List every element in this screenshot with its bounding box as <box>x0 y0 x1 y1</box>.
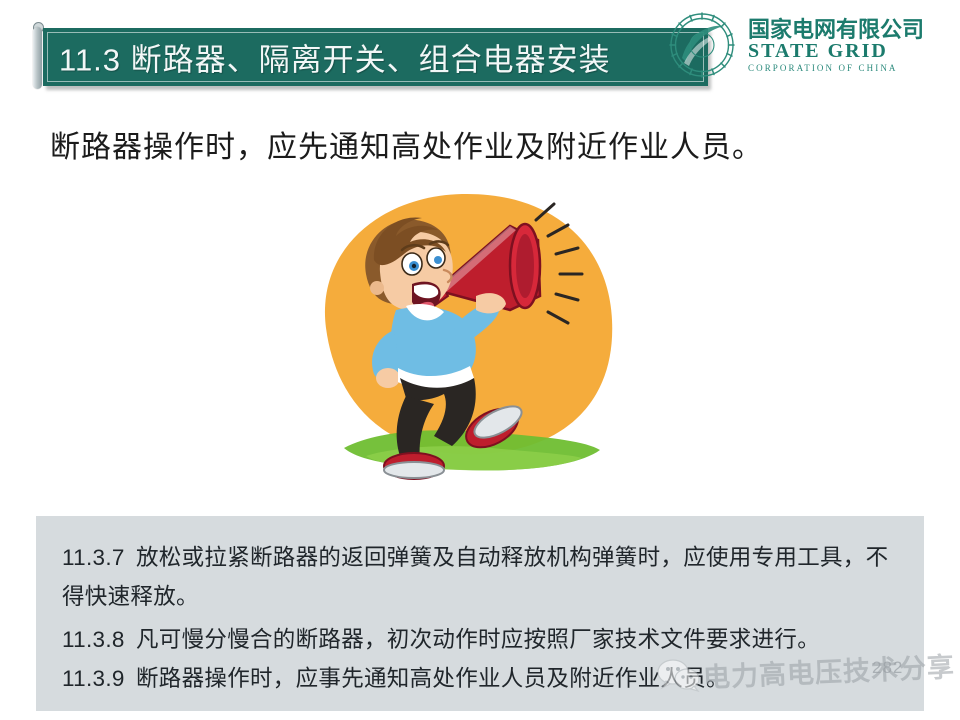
page-number: 282 <box>872 658 903 678</box>
state-grid-wordmark: 国家电网有限公司 STATE GRID CORPORATION OF CHINA <box>748 18 953 74</box>
title-banner: 11.3 断路器、隔离开关、组合电器安装 <box>43 28 708 86</box>
page-title: 11.3 断路器、隔离开关、组合电器安装 <box>59 35 611 80</box>
lead-statement: 断路器操作时，应先通知高处作业及附近作业人员。 <box>50 122 930 166</box>
pushpin-icon <box>33 27 42 89</box>
clause-number: 11.3.8 <box>62 620 136 659</box>
boy-with-megaphone-illustration <box>248 178 668 498</box>
clause-number: 11.3.9 <box>62 659 136 698</box>
clause-item: 11.3.9断路器操作时，应事先通知高处作业人员及附近作业人员。 <box>62 659 910 698</box>
clause-item: 11.3.7放松或拉紧断路器的返回弹簧及自动释放机构弹簧时，应使用专用工具，不得… <box>62 538 910 616</box>
clause-text: 凡可慢分慢合的断路器，初次动作时应按照厂家技术文件要求进行。 <box>136 627 820 652</box>
slide-canvas: 11.3 断路器、隔离开关、组合电器安装 <box>0 0 960 720</box>
logo-company-name-cn: 国家电网有限公司 <box>748 18 953 41</box>
clause-list: 11.3.7放松或拉紧断路器的返回弹簧及自动释放机构弹簧时，应使用专用工具，不得… <box>62 538 910 698</box>
clause-item: 11.3.8凡可慢分慢合的断路器，初次动作时应按照厂家技术文件要求进行。 <box>62 620 910 659</box>
clause-panel: 11.3.7放松或拉紧断路器的返回弹簧及自动释放机构弹簧时，应使用专用工具，不得… <box>36 516 924 711</box>
logo-company-subtitle: CORPORATION OF CHINA <box>748 62 953 74</box>
clause-text: 放松或拉紧断路器的返回弹簧及自动释放机构弹簧时，应使用专用工具，不得快速释放。 <box>62 545 888 609</box>
slide-header: 11.3 断路器、隔离开关、组合电器安装 <box>0 0 960 105</box>
state-grid-logo: 国家电网有限公司 STATE GRID CORPORATION OF CHINA <box>662 2 958 84</box>
state-grid-emblem-icon <box>662 6 742 84</box>
clause-text: 断路器操作时，应事先通知高处作业人员及附近作业人员。 <box>136 666 729 691</box>
clause-number: 11.3.7 <box>62 538 136 577</box>
logo-company-name-en: STATE GRID <box>748 41 953 62</box>
